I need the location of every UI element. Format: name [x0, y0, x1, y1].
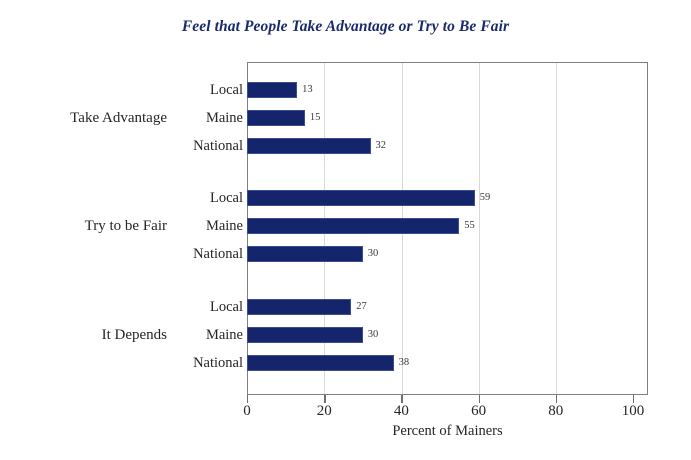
- bar-value-label: 15: [310, 110, 321, 126]
- group-label: It Depends: [0, 326, 167, 344]
- bar-value-label: 38: [399, 355, 410, 371]
- bar-value-label: 32: [376, 138, 387, 154]
- bar-value-label: 30: [368, 327, 379, 343]
- x-tick-mark: [401, 395, 402, 403]
- series-label-national: National: [13, 246, 243, 262]
- x-tick-mark: [556, 395, 557, 403]
- bar: [247, 246, 363, 262]
- group-label: Take Advantage: [0, 109, 167, 127]
- series-label-national: National: [13, 355, 243, 371]
- x-tick-mark: [633, 395, 634, 403]
- bar-value-label: 59: [480, 190, 491, 206]
- bar: [247, 110, 305, 126]
- series-label-national: National: [13, 138, 243, 154]
- x-tick-label: 0: [225, 403, 269, 420]
- series-label-local: Local: [13, 190, 243, 206]
- bar: [247, 327, 363, 343]
- x-axis-title: Percent of Mainers: [247, 423, 648, 440]
- gridline-80: [556, 63, 557, 394]
- x-tick-mark: [479, 395, 480, 403]
- bar: [247, 299, 351, 315]
- gridline-60: [479, 63, 480, 394]
- bar: [247, 138, 371, 154]
- series-label-local: Local: [13, 82, 243, 98]
- bar: [247, 82, 297, 98]
- bar: [247, 190, 475, 206]
- group-label: Try to be Fair: [0, 217, 167, 235]
- bar: [247, 218, 459, 234]
- x-tick-label: 80: [534, 403, 578, 420]
- x-tick-mark: [324, 395, 325, 403]
- x-tick-label: 40: [379, 403, 423, 420]
- x-tick-label: 20: [302, 403, 346, 420]
- bar-value-label: 30: [368, 246, 379, 262]
- x-tick-label: 60: [457, 403, 501, 420]
- x-tick-label: 100: [611, 403, 655, 420]
- bar-value-label: 27: [356, 299, 367, 315]
- bar: [247, 355, 394, 371]
- bar-value-label: 55: [464, 218, 475, 234]
- series-label-local: Local: [13, 299, 243, 315]
- chart-title: Feel that People Take Advantage or Try t…: [0, 18, 691, 36]
- bar-value-label: 13: [302, 82, 313, 98]
- x-tick-mark: [247, 395, 248, 403]
